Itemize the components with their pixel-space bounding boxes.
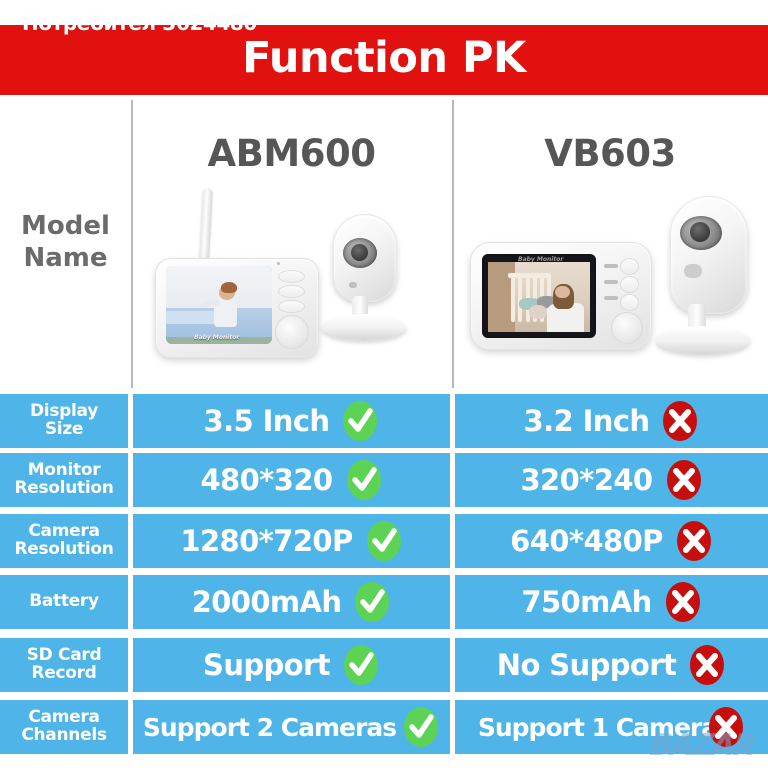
- monitor-button-1-abm600: [278, 270, 305, 283]
- monitor-button-3-vb603: [620, 294, 639, 311]
- table-row: SD Card Record Support No Support: [0, 638, 768, 692]
- cell-value: Support 2 Cameras: [143, 713, 396, 742]
- monitor-button-3-abm600: [278, 300, 305, 313]
- cell-value: 1280*720P: [180, 524, 352, 558]
- comparison-infographic: Function PK Потребител 3624480 Model Nam…: [0, 0, 768, 768]
- product-photo-vb603: Baby Monitor: [456, 186, 766, 384]
- row-label-line2: Size: [2, 421, 126, 439]
- check-icon: [342, 643, 380, 687]
- cell-vb603-camera-resolution: 640*480P: [455, 514, 768, 568]
- camera-lens-vb603: [690, 222, 710, 242]
- monitor-button-2-abm600: [278, 285, 305, 298]
- cell-value: 320*240: [520, 463, 652, 497]
- cell-abm600-battery: 2000mAh: [133, 575, 450, 629]
- cell-value: Support: [203, 648, 330, 682]
- camera-base-vb603: [656, 326, 750, 354]
- cell-vb603-battery: 750mAh: [455, 575, 768, 629]
- cell-value: 480*320: [200, 463, 332, 497]
- product-name-vb603: VB603: [452, 132, 768, 175]
- camera-sensor-vb603: [684, 264, 702, 278]
- cell-abm600-monitor-resolution: 480*320: [133, 453, 450, 507]
- table-row: Battery 2000mAh 750mAh: [0, 575, 768, 629]
- row-label-monitor-resolution: Monitor Resolution: [0, 453, 128, 507]
- screen-content-vb603: [488, 262, 590, 332]
- screen-brand-text-vb603: Baby Monitor: [518, 256, 563, 263]
- cross-icon: [665, 458, 703, 502]
- model-name-label-line1: Model: [21, 211, 110, 243]
- bottom-strip: [0, 762, 768, 768]
- camera-base-abm600: [322, 314, 406, 340]
- monitor-indicator-abm600: [277, 262, 280, 265]
- row-label-line2: Resolution: [2, 541, 126, 559]
- row-label-sd-card-record: SD Card Record: [0, 638, 128, 692]
- cross-icon: [688, 643, 726, 687]
- row-label-camera-resolution: Camera Resolution: [0, 514, 128, 568]
- camera-unit-vb603: [670, 196, 748, 314]
- camera-lens-abm600: [351, 244, 368, 261]
- cell-value: 3.2 Inch: [524, 404, 650, 438]
- check-icon: [341, 399, 379, 443]
- check-icon: [345, 458, 383, 502]
- header-banner: Function PK: [0, 25, 768, 95]
- page-title: Function PK: [242, 37, 526, 84]
- monitor-bar-1-vb603: [604, 264, 618, 268]
- table-row: Monitor Resolution 480*320 320*240: [0, 453, 768, 507]
- row-label-line2: Resolution: [2, 480, 126, 498]
- monitor-bar-3-vb603: [604, 296, 618, 300]
- table-row: Camera Channels Support 2 Cameras Suppor…: [0, 700, 768, 754]
- cell-vb603-display-size: 3.2 Inch: [455, 394, 768, 448]
- row-label-line2: Record: [2, 665, 126, 683]
- antenna-abm600: [199, 188, 213, 260]
- monitor-screen-abm600: Baby Monitor: [166, 266, 272, 344]
- cell-value: 3.5 Inch: [204, 404, 330, 438]
- table-row: Camera Resolution 1280*720P 640*480P: [0, 514, 768, 568]
- cell-value: No Support: [497, 648, 676, 682]
- model-name-label: Model Name: [0, 96, 131, 390]
- monitor-dpad-abm600: [275, 315, 309, 349]
- cell-abm600-camera-resolution: 1280*720P: [133, 514, 450, 568]
- cell-value: 750mAh: [521, 585, 651, 619]
- cross-icon: [707, 705, 745, 749]
- cell-abm600-camera-channels: Support 2 Cameras: [133, 700, 450, 754]
- camera-sensor-abm600: [349, 282, 357, 288]
- cross-icon: [664, 580, 702, 624]
- seller-watermark: Потребител 3624480: [22, 11, 257, 35]
- cell-abm600-display-size: 3.5 Inch: [133, 394, 450, 448]
- check-icon: [365, 519, 403, 563]
- cell-vb603-sd-card-record: No Support: [455, 638, 768, 692]
- row-label-camera-channels: Camera Channels: [0, 700, 128, 754]
- cell-value: 2000mAh: [192, 585, 342, 619]
- cell-vb603-monitor-resolution: 320*240: [455, 453, 768, 507]
- monitor-dpad-vb603: [611, 312, 643, 344]
- monitor-button-2-vb603: [620, 276, 639, 293]
- screen-brand-text-abm600: Baby Monitor: [194, 334, 239, 341]
- screen-content-abm600: [166, 266, 272, 344]
- cross-icon: [661, 399, 699, 443]
- monitor-bar-2-vb603: [604, 280, 618, 284]
- check-icon: [353, 580, 391, 624]
- cell-value: Support 1 Camera: [478, 713, 717, 742]
- row-label-line1: Battery: [2, 593, 126, 611]
- model-name-label-line2: Name: [23, 243, 107, 275]
- monitor-screen-vb603: Baby Monitor: [482, 254, 596, 338]
- cell-value: 640*480P: [510, 524, 663, 558]
- check-icon: [402, 705, 440, 749]
- cell-vb603-camera-channels: Support 1 Camera: [455, 700, 768, 754]
- row-label-line2: Channels: [2, 727, 126, 745]
- row-label-display-size: Display Size: [0, 394, 128, 448]
- row-label-battery: Battery: [0, 575, 128, 629]
- product-name-abm600: ABM600: [131, 132, 452, 175]
- table-row: Display Size 3.5 Inch 3.2 Inch: [0, 394, 768, 448]
- product-photo-abm600: Baby Monitor: [137, 186, 449, 384]
- cell-abm600-sd-card-record: Support: [133, 638, 450, 692]
- cross-icon: [675, 519, 713, 563]
- monitor-button-1-vb603: [620, 258, 639, 275]
